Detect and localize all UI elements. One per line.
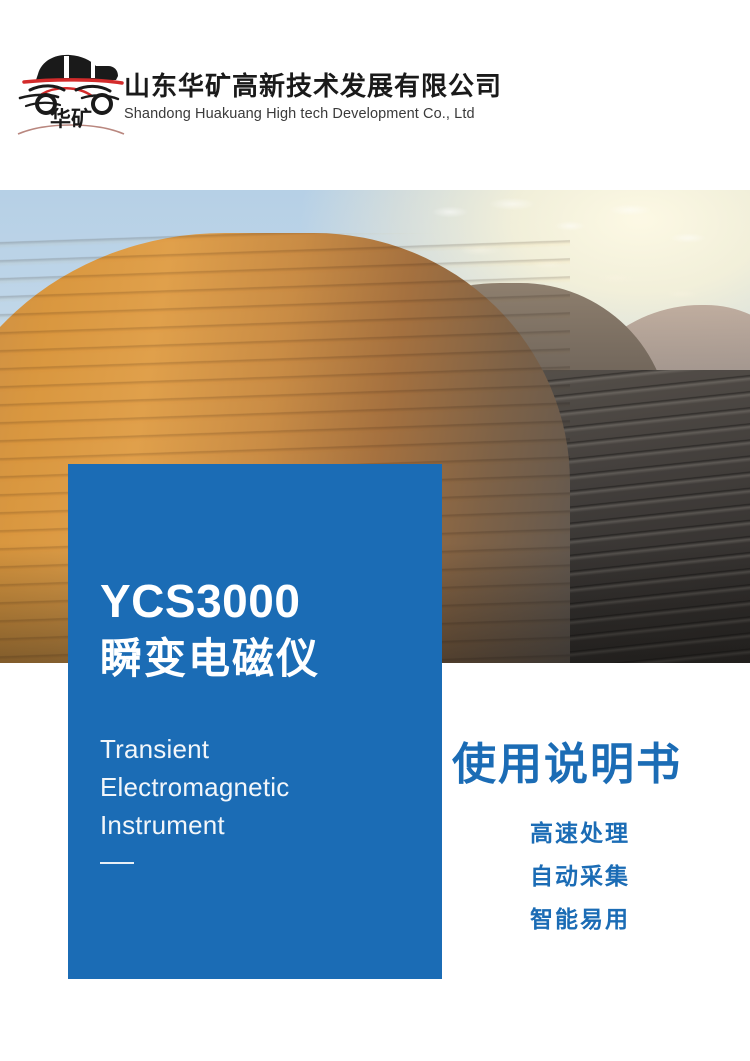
page-header: 华矿 山东华矿高新技术发展有限公司 Shandong Huakuang High… xyxy=(0,0,750,190)
manual-info-block: 使用说明书 高速处理 自动采集 智能易用 xyxy=(452,738,742,941)
product-code: YCS3000 xyxy=(100,574,422,628)
company-name-en: Shandong Huakuang High tech Development … xyxy=(124,105,502,124)
title-divider-rule xyxy=(100,862,134,864)
company-name-cn: 山东华矿高新技术发展有限公司 xyxy=(124,70,502,102)
product-title-panel: YCS3000 瞬变电磁仪 Transient Electromagnetic … xyxy=(68,464,442,979)
product-title-content: YCS3000 瞬变电磁仪 Transient Electromagnetic … xyxy=(100,574,422,864)
mining-truck-logo-icon: 华矿 xyxy=(12,38,130,150)
product-name-en: Transient Electromagnetic Instrument xyxy=(100,730,422,844)
product-name-en-line-2: Electromagnetic xyxy=(100,768,422,806)
manual-title: 使用说明书 xyxy=(452,738,742,792)
product-name-en-line-3: Instrument xyxy=(100,806,422,844)
feature-item: 高速处理 xyxy=(452,812,708,855)
svg-text:华矿: 华矿 xyxy=(50,107,92,131)
feature-list: 高速处理 自动采集 智能易用 xyxy=(452,812,742,941)
company-identity: 山东华矿高新技术发展有限公司 Shandong Huakuang High te… xyxy=(124,70,502,124)
feature-item: 自动采集 xyxy=(452,855,708,898)
feature-item: 智能易用 xyxy=(452,898,708,941)
product-name-cn: 瞬变电磁仪 xyxy=(100,632,422,686)
product-name-en-line-1: Transient xyxy=(100,730,422,768)
